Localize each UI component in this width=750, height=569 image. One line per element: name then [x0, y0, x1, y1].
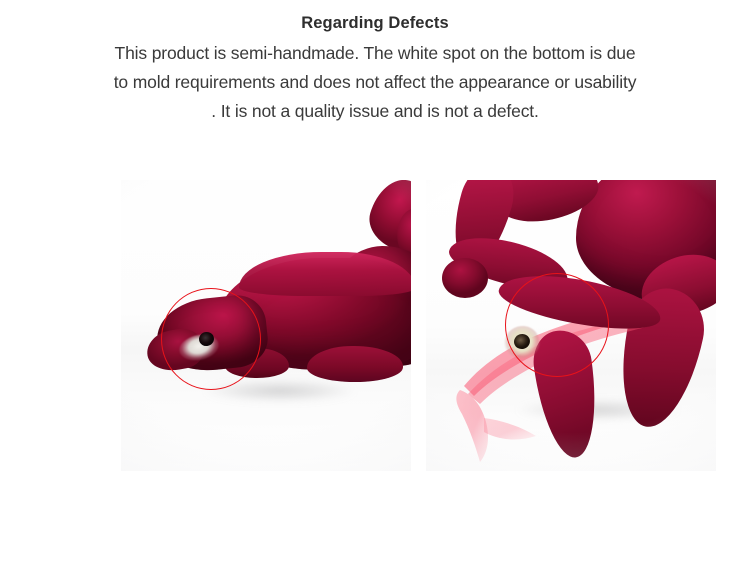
defect-annotation-circle-right — [505, 273, 609, 377]
product-photo-left[interactable] — [121, 180, 411, 471]
description-line-2: to mold requirements and does not affect… — [13, 68, 737, 97]
defect-annotation-circle-left — [161, 288, 261, 390]
product-photo-right[interactable] — [426, 180, 716, 471]
product-photo-gallery — [0, 164, 750, 455]
defect-description: This product is semi-handmade. The white… — [13, 39, 737, 126]
page-title: Regarding Defects — [0, 12, 750, 34]
description-line-3: . It is not a quality issue and is not a… — [13, 97, 737, 126]
description-line-1: This product is semi-handmade. The white… — [13, 39, 737, 68]
defect-notice: Regarding Defects This product is semi-h… — [0, 0, 750, 126]
